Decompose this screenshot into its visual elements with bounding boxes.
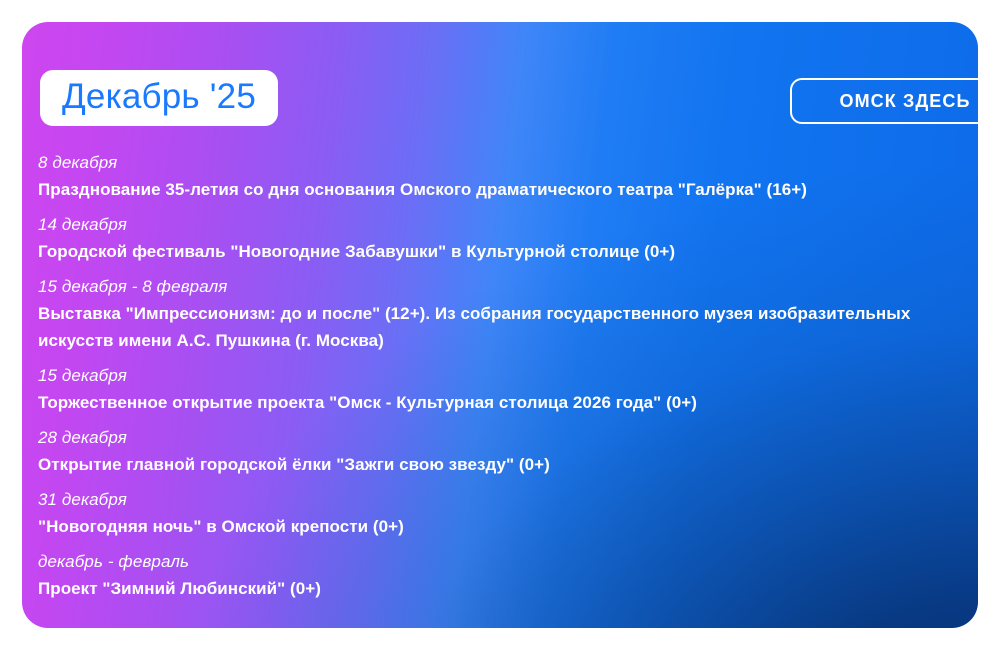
event-date: 31 декабря	[38, 487, 958, 513]
event-date: 15 декабря - 8 февраля	[38, 274, 958, 300]
event-title: Проект "Зимний Любинский" (0+)	[38, 575, 958, 602]
event-title: Торжественное открытие проекта "Омск - К…	[38, 389, 958, 416]
event-date: декабрь - февраль	[38, 549, 958, 575]
event-date: 14 декабря	[38, 212, 958, 238]
brand-badge: ОМСК ЗДЕСЬ	[790, 78, 978, 124]
event-title: Празднование 35-летия со дня основания О…	[38, 176, 958, 203]
event-item: 31 декабря "Новогодняя ночь" в Омской кр…	[38, 487, 958, 540]
event-poster-card: Декабрь '25 ОМСК ЗДЕСЬ 8 декабря Праздно…	[22, 22, 978, 628]
event-item: декабрь - февраль Проект "Зимний Любинск…	[38, 549, 958, 602]
event-title: "Новогодняя ночь" в Омской крепости (0+)	[38, 513, 958, 540]
event-item: 15 декабря Торжественное открытие проект…	[38, 363, 958, 416]
event-item: 14 декабря Городской фестиваль "Новогодн…	[38, 212, 958, 265]
event-title: Открытие главной городской ёлки "Зажги с…	[38, 451, 958, 478]
event-item: 8 декабря Празднование 35-летия со дня о…	[38, 150, 958, 203]
event-item: 28 декабря Открытие главной городской ёл…	[38, 425, 958, 478]
event-title: Городской фестиваль "Новогодние Забавушк…	[38, 238, 958, 265]
event-item: 15 декабря - 8 февраля Выставка "Импресс…	[38, 274, 958, 354]
event-list: 8 декабря Празднование 35-летия со дня о…	[38, 150, 958, 611]
event-date: 8 декабря	[38, 150, 958, 176]
poster-header: Декабрь '25 ОМСК ЗДЕСЬ	[22, 22, 978, 140]
event-title: Выставка "Импрессионизм: до и после" (12…	[38, 300, 958, 354]
month-title-badge: Декабрь '25	[40, 70, 278, 126]
event-date: 28 декабря	[38, 425, 958, 451]
event-date: 15 декабря	[38, 363, 958, 389]
